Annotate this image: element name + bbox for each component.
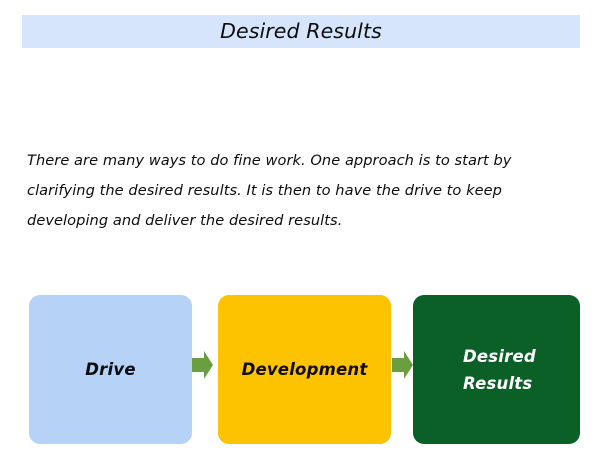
process-step-development-label: Development <box>242 356 368 383</box>
right-arrow-icon <box>192 351 213 379</box>
slide-canvas: Desired Results There are many ways to d… <box>0 0 600 450</box>
process-step-desired-results-label: Desired Results <box>463 343 536 397</box>
process-step-desired-results[interactable]: Desired Results <box>413 295 580 444</box>
right-arrow-icon <box>392 351 413 379</box>
process-step-desired-results-line2: Results <box>463 374 532 393</box>
process-step-drive-label: Drive <box>85 356 135 383</box>
process-step-development[interactable]: Development <box>218 295 391 444</box>
process-flow-diagram: Drive Development Desired Results <box>0 0 600 450</box>
process-step-drive[interactable]: Drive <box>29 295 192 444</box>
process-step-desired-results-line1: Desired <box>463 347 536 366</box>
